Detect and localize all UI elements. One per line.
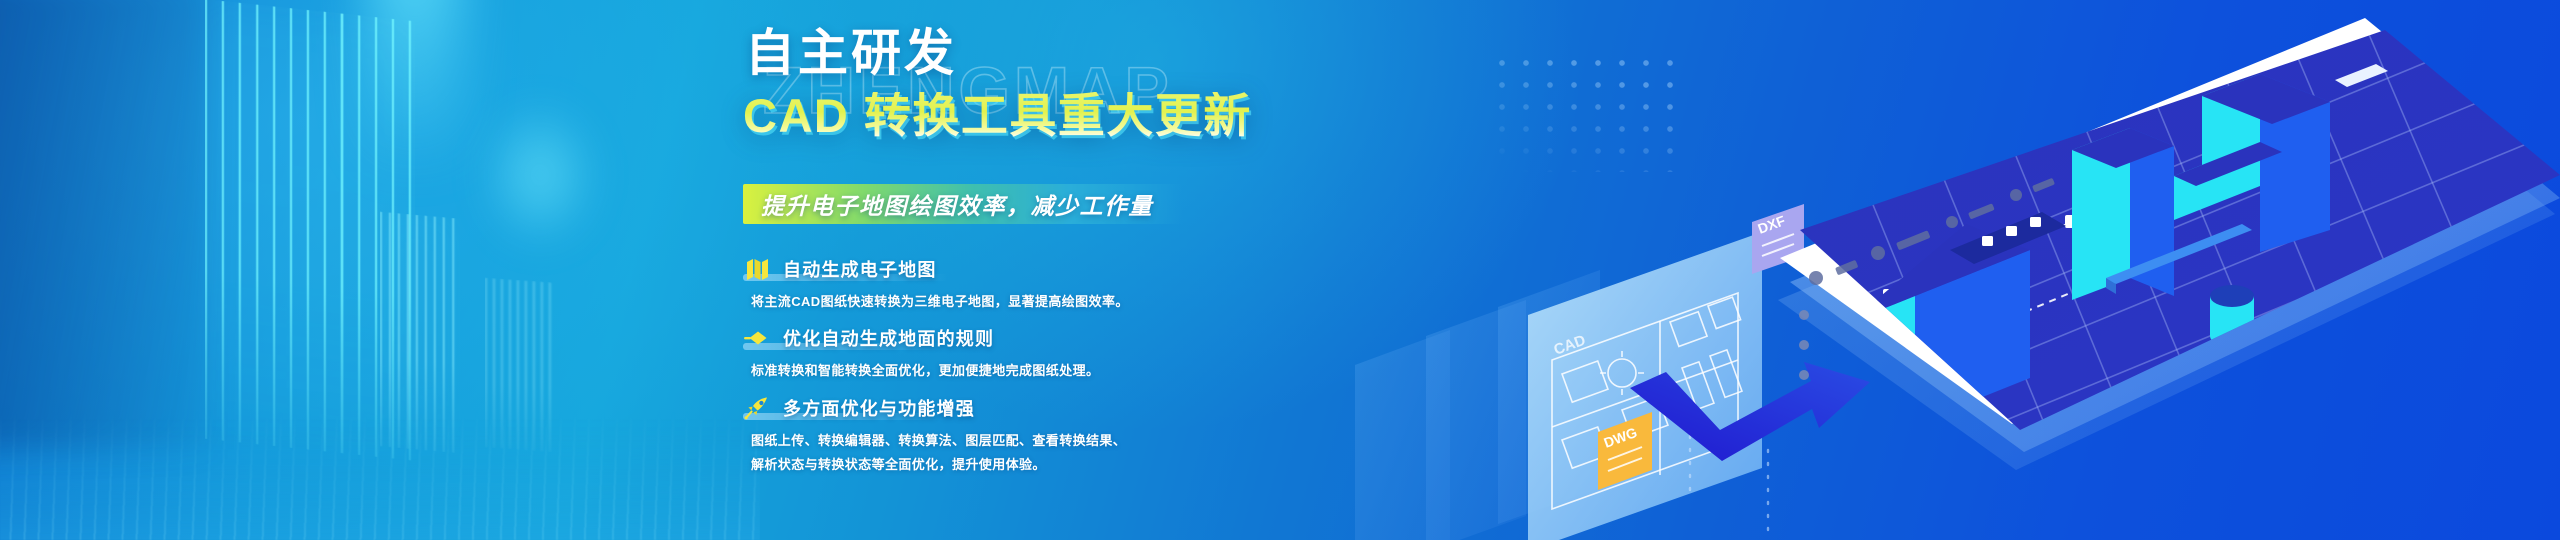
feature-item-3: 多方面优化与功能增强 图纸上传、转换编辑器、转换算法、图层匹配、查看转换结果、 … <box>743 395 1213 477</box>
subtitle-ribbon: 提升电子地图绘图效率，减少工作量 <box>743 184 1183 224</box>
feature-3-header: 多方面优化与功能增强 <box>743 395 1213 421</box>
feature-item-1: 自动生成电子地图 将主流CAD图纸快速转换为三维电子地图，显著提高绘图效率。 <box>743 256 1213 313</box>
feature-3-desc-line-1: 图纸上传、转换编辑器、转换算法、图层匹配、查看转换结果、 <box>743 430 1213 452</box>
feature-1-header: 自动生成电子地图 <box>743 256 1213 282</box>
feature-item-2: 优化自动生成地面的规则 标准转换和智能转换全面优化，更加便捷地完成图纸处理。 <box>743 325 1213 382</box>
headline-line-1: 自主研发 <box>745 28 957 78</box>
copy-block: ZHENGMAP 自主研发 CAD 转换工具重大更新 提升电子地图绘图效率，减少… <box>735 0 1235 540</box>
illustration-svg: CAD DXF DWG <box>1330 0 2560 540</box>
map-book-icon <box>743 257 773 281</box>
feature-2-header: 优化自动生成地面的规则 <box>743 325 1213 351</box>
backdrop-wall <box>0 0 210 450</box>
subtitle-text: 提升电子地图绘图效率，减少工作量 <box>743 187 1153 221</box>
feature-1-desc-line-1: 将主流CAD图纸快速转换为三维电子地图，显著提高绘图效率。 <box>743 291 1213 313</box>
headline-line-2: CAD 转换工具重大更新 <box>743 92 1252 139</box>
light-glow-b <box>480 100 600 250</box>
isometric-illustration: CAD DXF DWG <box>1330 0 2560 540</box>
rocket-icon <box>743 396 773 420</box>
feature-1-title: 自动生成电子地图 <box>783 256 937 282</box>
feature-2-title: 优化自动生成地面的规则 <box>783 325 994 351</box>
diamond-icon <box>743 326 773 350</box>
promo-banner: ZHENGMAP 自主研发 CAD 转换工具重大更新 提升电子地图绘图效率，减少… <box>0 0 2560 540</box>
feature-list: 自动生成电子地图 将主流CAD图纸快速转换为三维电子地图，显著提高绘图效率。 优… <box>743 256 1213 476</box>
feature-3-title: 多方面优化与功能增强 <box>783 395 975 421</box>
feature-2-desc-line-1: 标准转换和智能转换全面优化，更加便捷地完成图纸处理。 <box>743 360 1213 382</box>
reflective-floor <box>0 410 760 540</box>
feature-3-desc-line-2: 解析状态与转换状态等全面优化，提升使用体验。 <box>743 454 1213 476</box>
